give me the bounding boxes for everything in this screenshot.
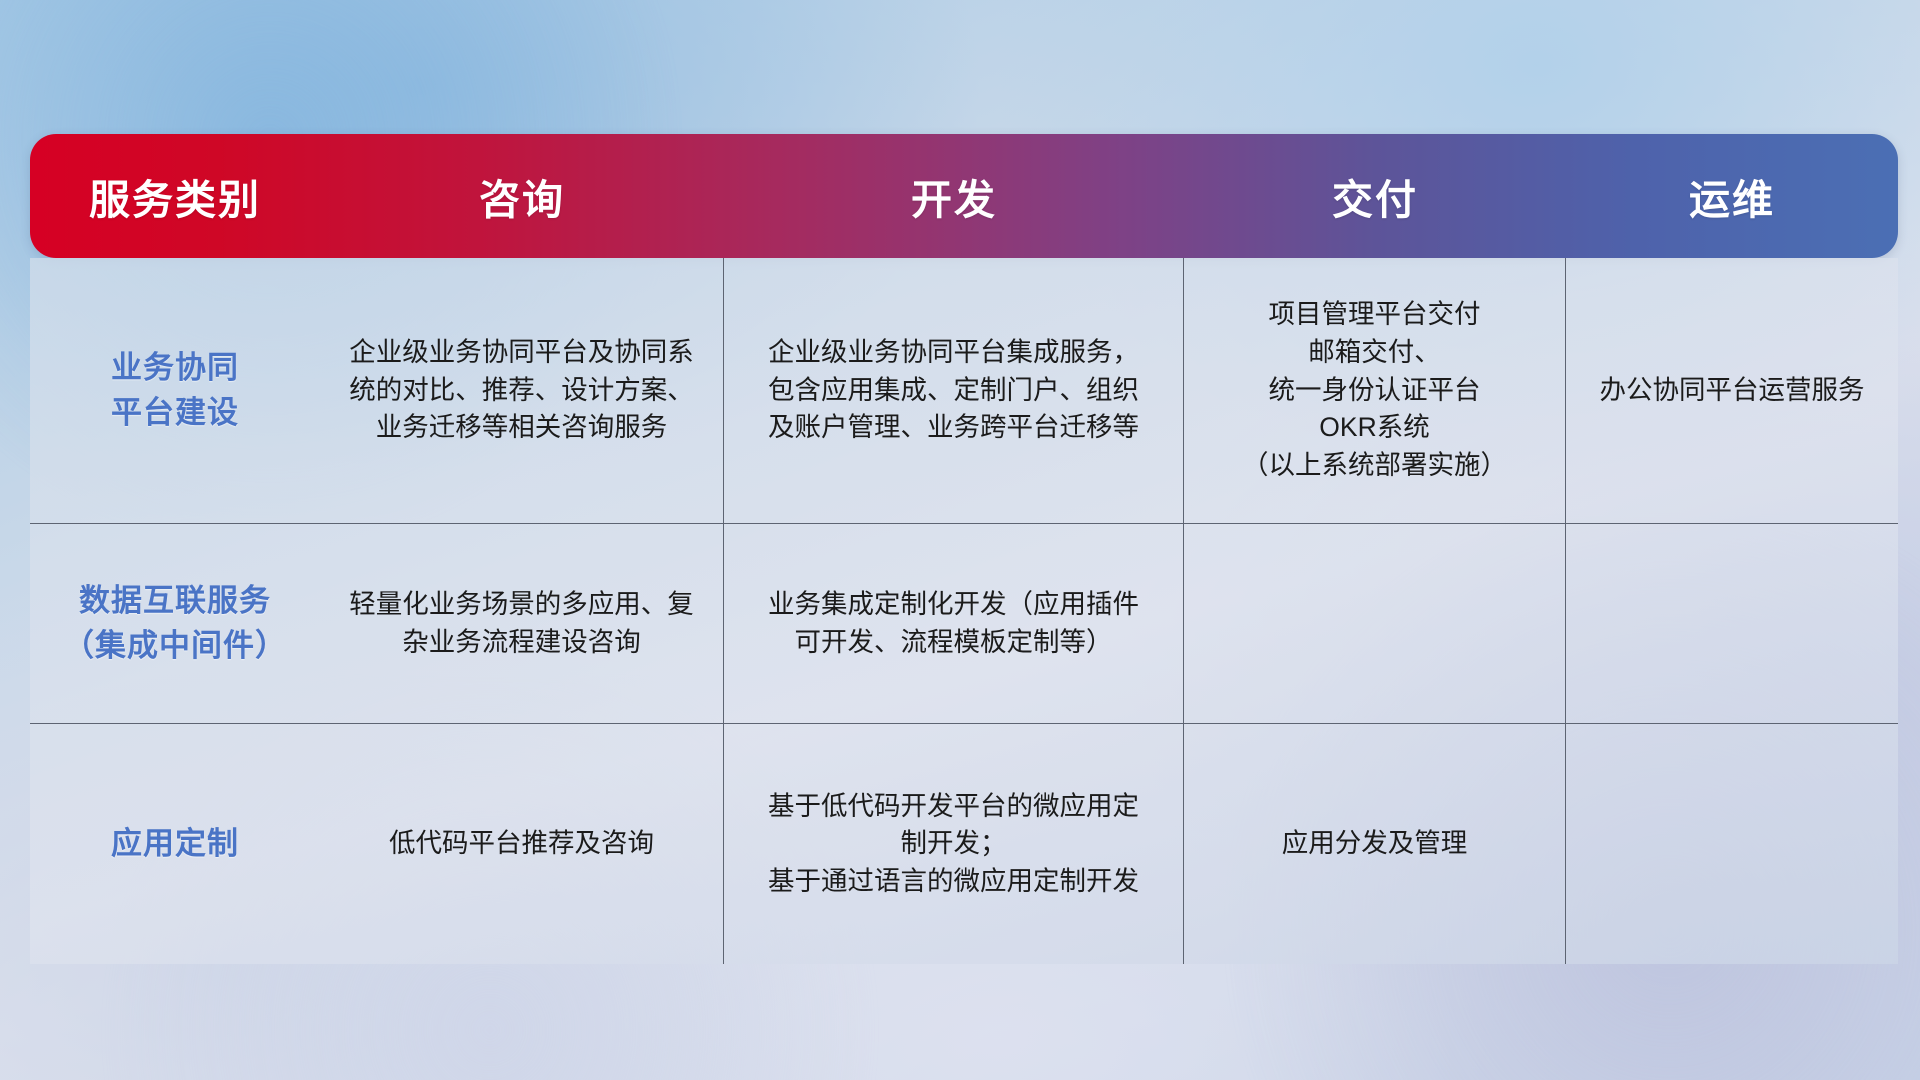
cell-development: 业务集成定制化开发（应用插件 可开发、流程模板定制等） bbox=[724, 524, 1184, 723]
table-header-cell-delivery: 交付 bbox=[1184, 134, 1566, 258]
cell-consulting: 轻量化业务场景的多应用、复 杂业务流程建设咨询 bbox=[320, 524, 724, 723]
row-category-label: 应用定制 bbox=[30, 724, 320, 964]
table-row: 业务协同 平台建设 企业级业务协同平台及协同系 统的对比、推荐、设计方案、 业务… bbox=[30, 258, 1898, 524]
cell-consulting: 企业级业务协同平台及协同系 统的对比、推荐、设计方案、 业务迁移等相关咨询服务 bbox=[320, 258, 724, 523]
cell-delivery bbox=[1184, 524, 1566, 723]
cell-operations bbox=[1566, 724, 1898, 964]
table-row: 应用定制 低代码平台推荐及咨询 基于低代码开发平台的微应用定 制开发； 基于通过… bbox=[30, 724, 1898, 964]
table-row: 数据互联服务 （集成中间件） 轻量化业务场景的多应用、复 杂业务流程建设咨询 业… bbox=[30, 524, 1898, 724]
cell-consulting: 低代码平台推荐及咨询 bbox=[320, 724, 724, 964]
service-matrix-table: 服务类别 咨询 开发 交付 运维 业务协同 平台建设 企业级业务协同平台及协同系… bbox=[30, 134, 1898, 964]
table-header-cell-service-category: 服务类别 bbox=[30, 134, 320, 258]
cell-development: 企业级业务协同平台集成服务， 包含应用集成、定制门户、组织 及账户管理、业务跨平… bbox=[724, 258, 1184, 523]
cell-delivery: 项目管理平台交付 邮箱交付、 统一身份认证平台 OKR系统 （以上系统部署实施） bbox=[1184, 258, 1566, 523]
cell-operations bbox=[1566, 524, 1898, 723]
cell-development: 基于低代码开发平台的微应用定 制开发； 基于通过语言的微应用定制开发 bbox=[724, 724, 1184, 964]
table-body: 业务协同 平台建设 企业级业务协同平台及协同系 统的对比、推荐、设计方案、 业务… bbox=[30, 258, 1898, 964]
cell-delivery: 应用分发及管理 bbox=[1184, 724, 1566, 964]
cell-operations: 办公协同平台运营服务 bbox=[1566, 258, 1898, 523]
table-header-row: 服务类别 咨询 开发 交付 运维 bbox=[30, 134, 1898, 258]
table-header-cell-operations: 运维 bbox=[1566, 134, 1898, 258]
row-category-label: 业务协同 平台建设 bbox=[30, 258, 320, 523]
table-header-cell-development: 开发 bbox=[724, 134, 1184, 258]
row-category-label: 数据互联服务 （集成中间件） bbox=[30, 524, 320, 723]
table-header-cell-consulting: 咨询 bbox=[320, 134, 724, 258]
